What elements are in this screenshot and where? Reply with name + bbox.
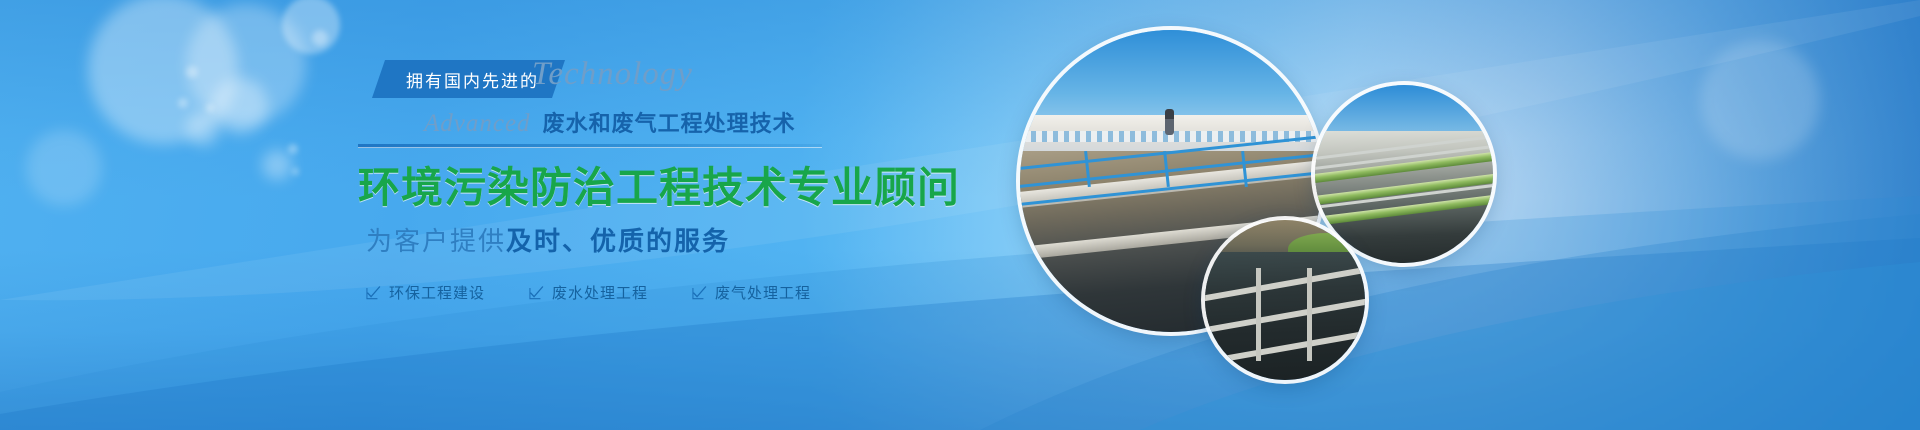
tag-label: 拥有国内先进的 [406,67,539,92]
tagline-bold: 及时、优质的服务 [506,226,730,256]
photo-small-circle [1205,220,1365,380]
photo-worker [1165,109,1174,135]
subtitle-row: Advanced 废水和废气工程处理技术 [372,106,842,140]
photo-support [1307,268,1312,361]
list-item-label: 废水处理工程 [552,282,648,303]
check-icon [692,285,707,300]
banner-copy: 拥有国内先进的 Technology Advanced 废水和废气工程处理技术 … [372,60,842,300]
tagline-light: 为客户提供 [366,226,506,256]
feature-list: 环保工程建设 废水处理工程 废气处理工程 [366,282,842,303]
subtitle-chinese: 废水和废气工程处理技术 [543,106,796,138]
photo-small-image [1205,220,1365,380]
list-item-label: 环保工程建设 [389,282,485,303]
page-title: 环境污染防治工程技术专业顾问 [358,154,842,215]
list-item: 废气处理工程 [692,282,811,303]
subtitle-english: Advanced [424,110,531,138]
tag-row: 拥有国内先进的 Technology [372,60,842,100]
tag-english: Technology [532,56,693,93]
hero-banner: 拥有国内先进的 Technology Advanced 废水和废气工程处理技术 … [0,0,1920,430]
divider-rule [358,144,822,148]
list-item: 废水处理工程 [529,282,648,303]
photo-support [1256,268,1261,361]
check-icon [366,285,381,300]
check-icon [529,285,544,300]
list-item-label: 废气处理工程 [715,282,811,303]
list-item: 环保工程建设 [366,282,485,303]
background-swoosh [0,0,1920,430]
tagline: 为客户提供及时、优质的服务 [366,221,842,258]
